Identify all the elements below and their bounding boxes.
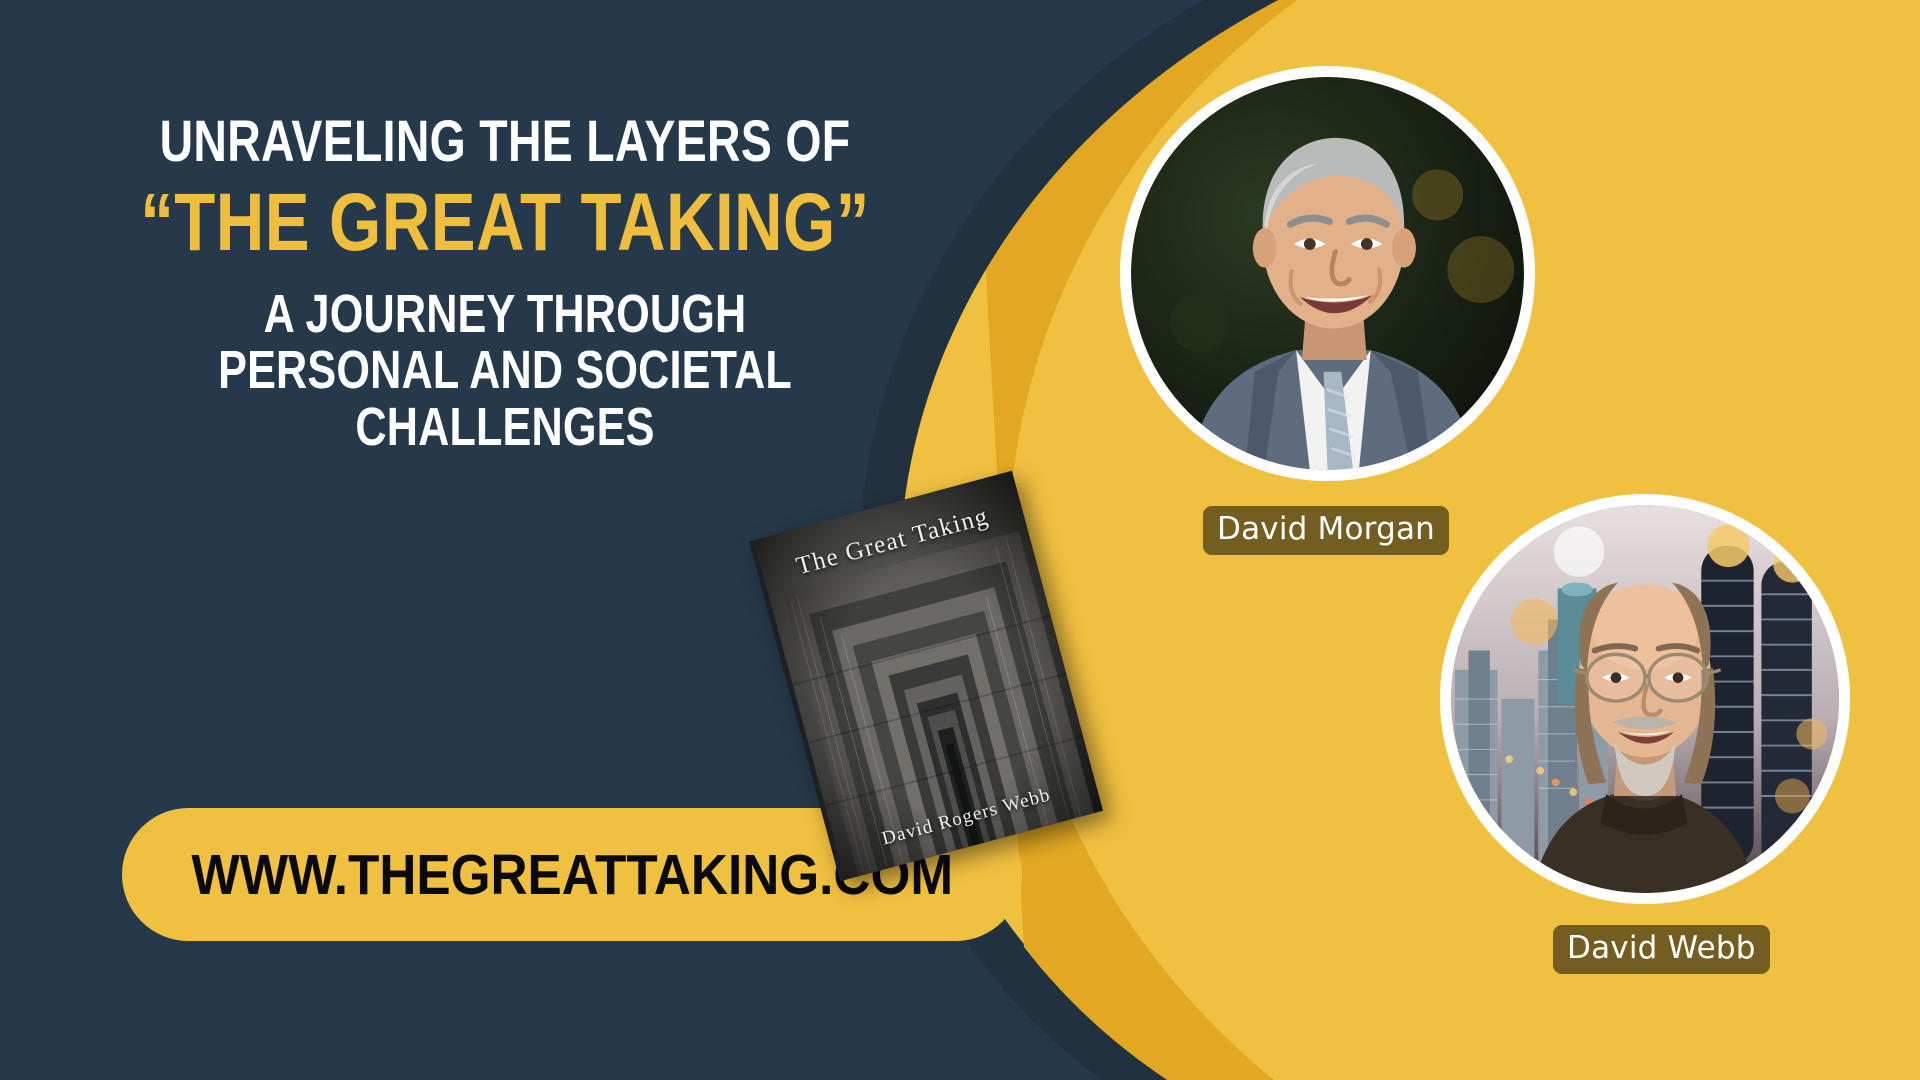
avatar-david-webb — [1440, 494, 1850, 904]
promo-banner: UNRAVELING THE LAYERS OF “THE GREAT TAKI… — [0, 0, 1920, 1080]
subtitle-line-1: A JOURNEY THROUGH — [101, 286, 909, 342]
subtitle-line-3: CHALLENGES — [101, 399, 909, 455]
subtitle-line-2: PERSONAL AND SOCIETAL — [101, 342, 909, 398]
avatar-david-morgan — [1120, 66, 1535, 481]
avatar-photo-david-webb — [1451, 505, 1839, 893]
subtitle-text: A JOURNEY THROUGH PERSONAL AND SOCIETAL … — [101, 286, 909, 454]
headline-block: UNRAVELING THE LAYERS OF “THE GREAT TAKI… — [0, 112, 1010, 455]
eyebrow-text: UNRAVELING THE LAYERS OF — [101, 112, 909, 172]
name-label-david-morgan: David Morgan — [1203, 506, 1449, 555]
name-label-david-webb: David Webb — [1553, 925, 1770, 974]
page-title: “THE GREAT TAKING” — [91, 182, 919, 264]
avatar-photo-david-morgan — [1131, 77, 1524, 470]
